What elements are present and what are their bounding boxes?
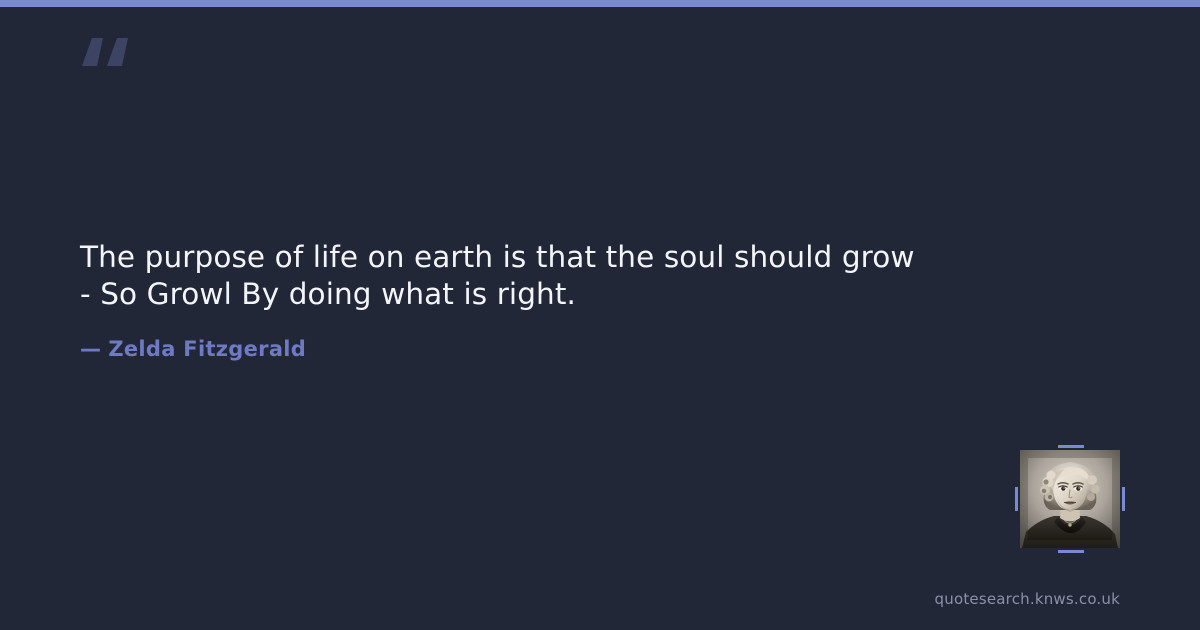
top-accent-bar [0, 0, 1200, 7]
author-portrait-image [1020, 450, 1120, 548]
attribution-dash: — [80, 337, 101, 361]
quote-card: The purpose of life on earth is that the… [0, 0, 1200, 630]
quote-line-2: - So Growl By doing what is right. [80, 276, 1020, 313]
quote-attribution: —Zelda Fitzgerald [80, 337, 306, 361]
portrait-handle-right [1122, 487, 1125, 511]
quote-line-1: The purpose of life on earth is that the… [80, 239, 1020, 276]
portrait-handle-left [1015, 487, 1018, 511]
portrait-handle-top [1058, 445, 1084, 448]
author-portrait [1020, 450, 1120, 548]
attribution-author-name: Zelda Fitzgerald [108, 337, 306, 361]
site-watermark: quotesearch.knws.co.uk [935, 590, 1120, 608]
quote-block: The purpose of life on earth is that the… [80, 239, 1020, 313]
double-open-quote-icon [78, 24, 138, 84]
portrait-handle-bottom [1058, 550, 1084, 553]
